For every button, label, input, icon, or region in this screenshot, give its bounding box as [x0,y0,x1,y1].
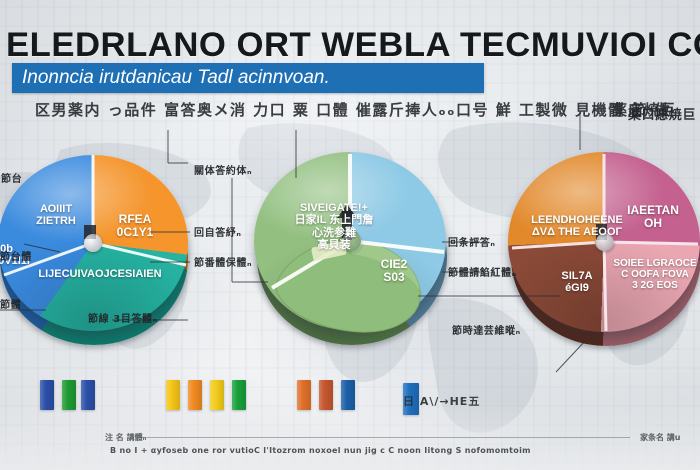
legend-swatch-2-2[interactable] [210,380,224,410]
legend-swatch-3-1[interactable] [319,380,333,410]
legend-swatch-1-0[interactable] [40,380,54,410]
infographic-canvas: ELEDRLANO ORT WEBLA TECMUVIOI COF2I3 Ino… [0,0,700,470]
legend-swatch-1-1[interactable] [62,380,76,410]
annotation-right-1: 節體請餡紅體ₙ [448,264,517,279]
legend-swatch-3-0[interactable] [297,380,311,410]
annotation-left-2: 節番體保體ₙ [194,254,252,269]
legend-swatch-2-0[interactable] [166,380,180,410]
legend-swatch-2-3[interactable] [232,380,246,410]
annotation-right-3: 薬口愿焼巨 [628,104,696,123]
legend-swatch-3-2[interactable] [341,380,355,410]
footer-right-text: 家条名 講u [640,432,680,443]
annotation-right-0: 回条評答ₙ [448,234,496,249]
footer-divider [140,437,630,438]
legend-swatch-1-2[interactable] [81,380,95,410]
annotation-far-left-2: 節體 [0,296,21,311]
legend-caption: B no I + αyfoseb one ror vutioC l'Itozro… [110,446,630,460]
annotation-left-0: 關体答約体ₙ [194,162,252,177]
annotation-left-1: 回自答紓ₙ [194,224,242,239]
annotation-far-left-0: 節台 [1,170,22,185]
legend-swatch-2-1[interactable] [188,380,202,410]
footer-left-text: 注 名 講體ₙ [105,432,146,443]
legend-right-label: 日 A\/→HΕ五 [403,393,480,411]
annotation-left-3: 節線 3目答體ₙ [88,310,158,325]
annotation-far-left-1: 節台體 [0,248,32,263]
annotation-right-2: 節時達芸維暰ₙ [452,322,521,337]
